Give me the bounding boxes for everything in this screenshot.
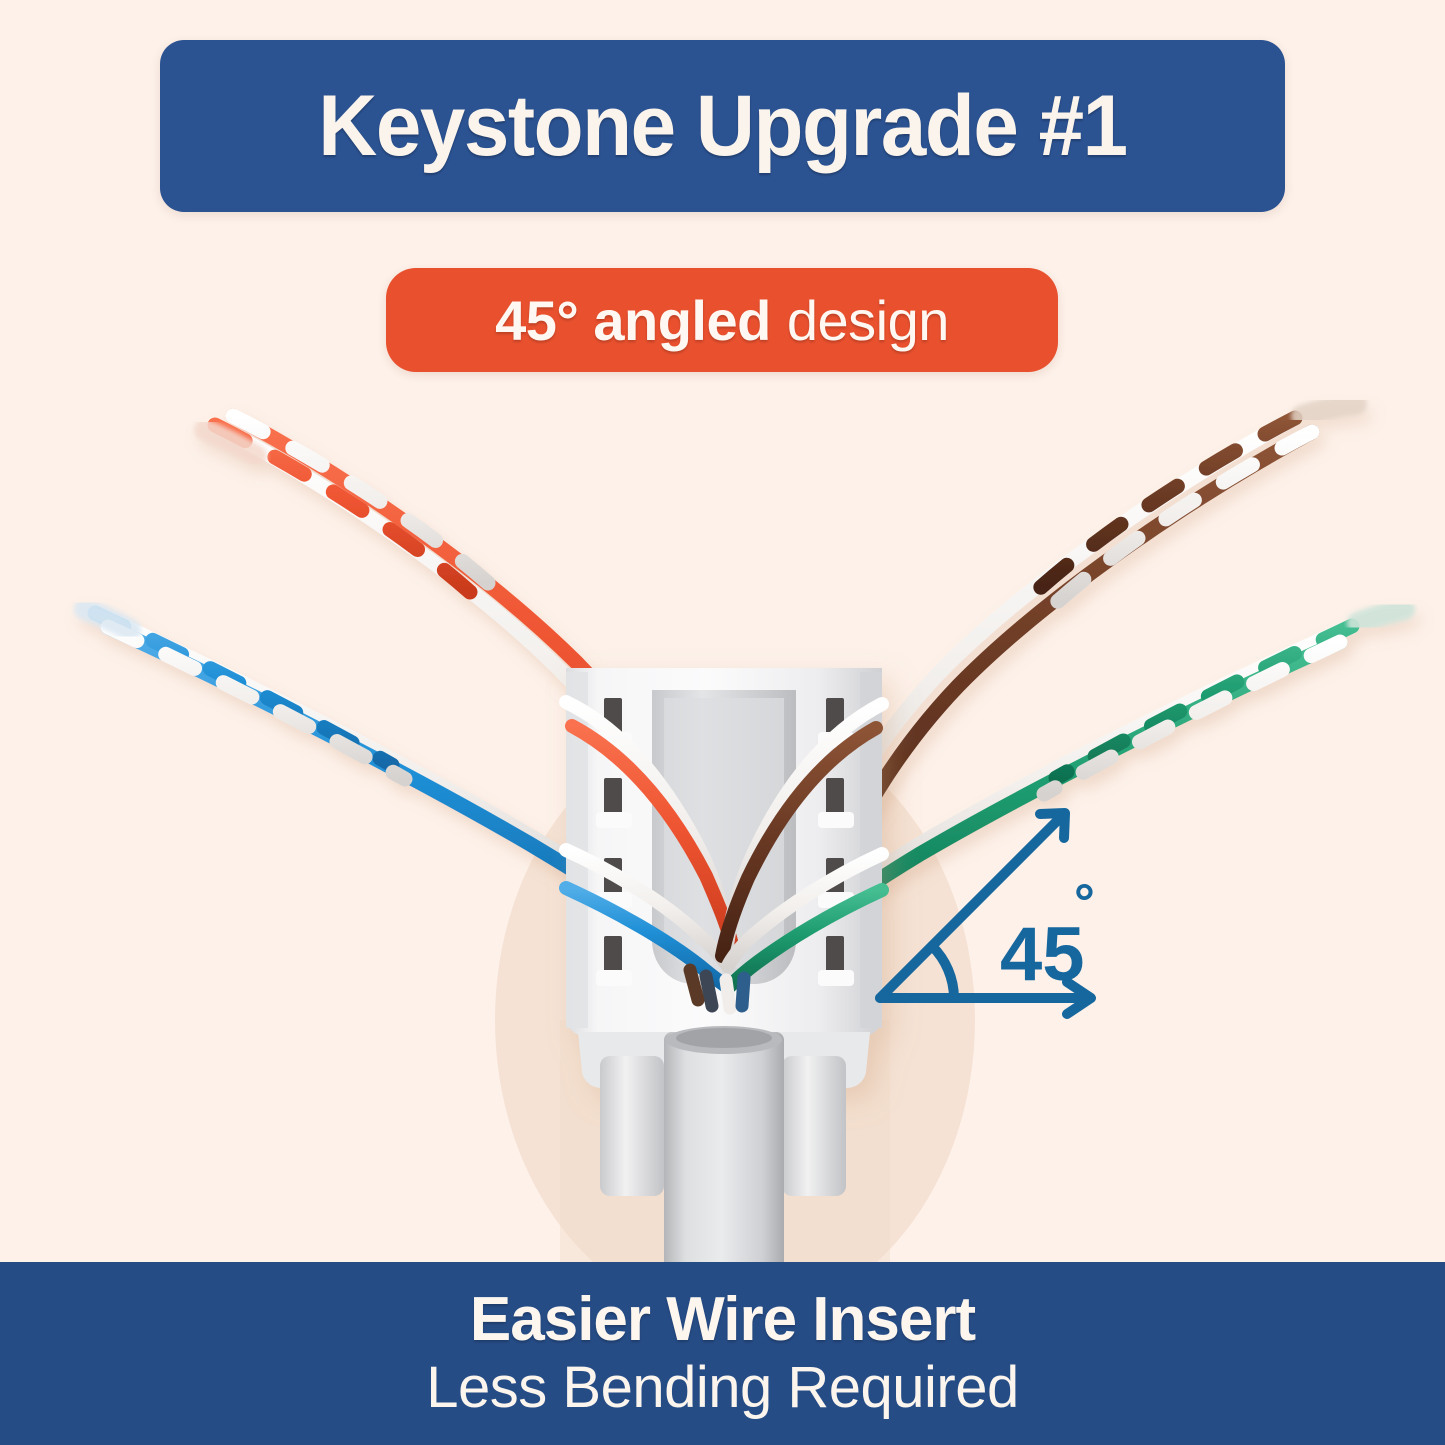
angle-diagram: 45 °	[862, 780, 1132, 1040]
cable-jacket	[664, 1032, 784, 1280]
angle-value-text: 45	[1000, 912, 1085, 997]
footer-headline: Easier Wire Insert	[470, 1287, 975, 1352]
retention-post-left	[600, 1056, 664, 1196]
infographic-canvas: 45 ° Keystone Upgrade #1 45° angled desi…	[0, 0, 1445, 1445]
angle-arc	[932, 946, 954, 998]
page-title: Keystone Upgrade #1	[318, 83, 1126, 169]
badge-light-text: design	[787, 288, 949, 353]
footer-banner: Easier Wire Insert Less Bending Required	[0, 1262, 1445, 1445]
footer-subline: Less Bending Required	[426, 1356, 1018, 1420]
degree-symbol-text: °	[1074, 874, 1095, 932]
retention-post-right	[782, 1056, 846, 1196]
title-banner: Keystone Upgrade #1	[160, 40, 1285, 212]
badge-strong-text: 45° angled	[495, 288, 771, 353]
angled-design-badge: 45° angled design	[386, 268, 1058, 372]
product-photo	[0, 380, 1445, 1280]
